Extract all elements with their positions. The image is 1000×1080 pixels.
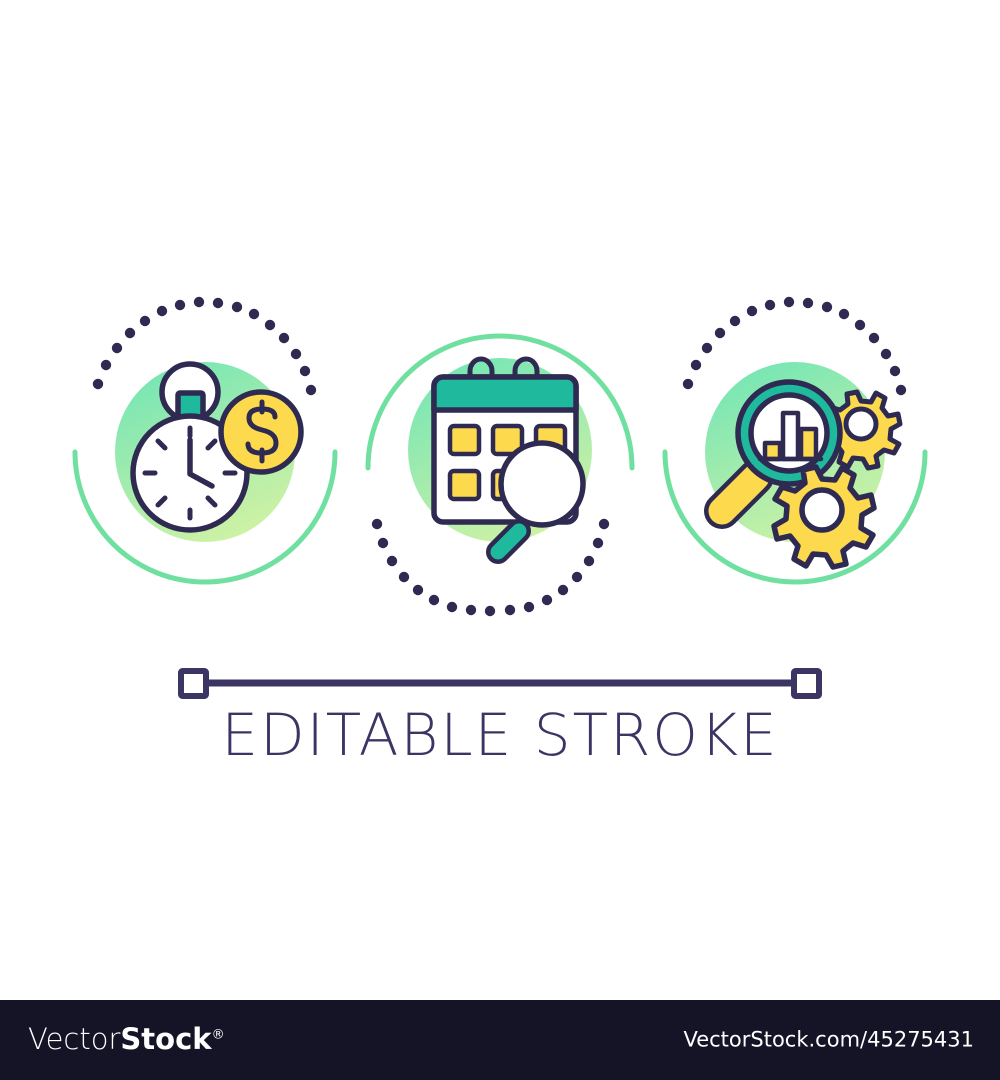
- watermark-url: VectorStock.com/45275431: [683, 1030, 974, 1051]
- calendar-search-icon: [434, 359, 583, 552]
- registered-trademark-icon: ®: [212, 1027, 225, 1042]
- logo-text-bold: Stock: [120, 1022, 211, 1056]
- vectorstock-logo: VectorStock®: [28, 1025, 225, 1055]
- page-title: EDITABLE STROKE: [0, 706, 1000, 764]
- editable-stroke-path[interactable]: [181, 671, 819, 696]
- anchor-handle-left[interactable]: [181, 671, 206, 696]
- anchor-handle-right[interactable]: [794, 671, 819, 696]
- screenshot-stage: EDITABLE STROKE VectorStock® VectorStock…: [0, 0, 1000, 1080]
- logo-text-light: Vector: [28, 1022, 120, 1056]
- illustration-artboard: EDITABLE STROKE: [0, 0, 1000, 1000]
- watermark-footer: VectorStock® VectorStock.com/45275431: [0, 1000, 1000, 1080]
